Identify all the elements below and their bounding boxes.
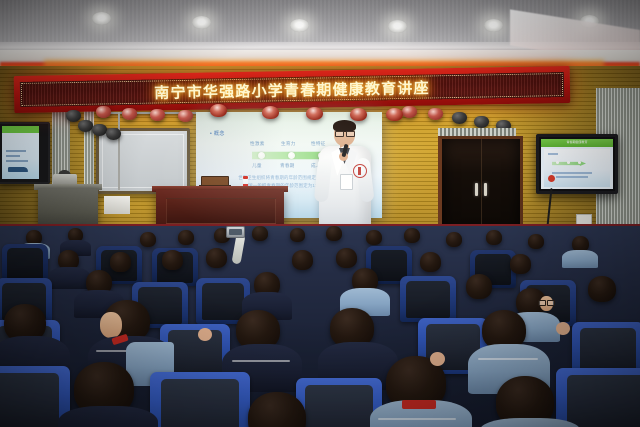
- student-head: [290, 228, 305, 242]
- student-hand: [556, 322, 570, 335]
- presenter-glasses-icon: [335, 131, 354, 136]
- presenter-id-badge: [340, 174, 353, 190]
- uniform-stripe: [478, 358, 538, 360]
- slide-label-top: 性激素: [250, 141, 265, 147]
- student-head: [292, 250, 313, 270]
- slide-label-bottom: 青春期: [280, 163, 295, 169]
- student-glasses-icon: [538, 300, 554, 305]
- student-head: [252, 226, 268, 241]
- student-head: [336, 248, 357, 268]
- presenter-coat-emblem: [353, 164, 367, 178]
- stage-spotlight: [452, 112, 467, 124]
- student-head: [326, 226, 342, 241]
- smartphone[interactable]: [226, 226, 245, 238]
- student-head: [466, 274, 492, 299]
- red-scarf: [402, 400, 436, 409]
- door-center-seam: [481, 139, 482, 237]
- stage-spotlight: [474, 116, 489, 128]
- auditorium-seat[interactable]: [2, 244, 48, 282]
- stage-spotlight: [178, 110, 193, 122]
- rear-exit-door[interactable]: [438, 136, 523, 237]
- ceiling-downlight: [92, 12, 111, 25]
- student-head: [528, 234, 544, 249]
- stage-spotlight: [66, 110, 81, 122]
- slide-label-top: 生育力: [281, 141, 296, 147]
- student-head: [178, 230, 194, 245]
- auditorium-lecture-photo: 南宁市华强路小学青春期健康教育讲座 青春期健康教育: [0, 0, 640, 427]
- stage-spotlight: [106, 128, 121, 140]
- student-hand: [430, 352, 445, 366]
- student-head: [110, 252, 131, 272]
- auditorium-seat[interactable]: [400, 276, 456, 322]
- stage-spotlight: [150, 109, 165, 121]
- stage-equipment-box: [104, 196, 130, 214]
- student-face: [100, 312, 122, 338]
- presenter: [313, 118, 377, 230]
- ceiling-downlight: [192, 16, 211, 29]
- door-handle[interactable]: [475, 183, 478, 196]
- left-monitor-graphic: [8, 167, 28, 172]
- tv-slide-body: [544, 149, 610, 187]
- student-head: [366, 230, 382, 245]
- stage-spotlight: [402, 106, 417, 118]
- slide-timeline-node: [258, 152, 265, 159]
- auditorium-seat[interactable]: [150, 372, 250, 427]
- tv-slide-header-text: 青春期健康教育: [541, 140, 613, 144]
- student-shoulders: [58, 406, 158, 427]
- uniform-stripe: [232, 360, 290, 362]
- led-banner-panel: 南宁市华强路小学青春期健康教育讲座: [20, 72, 564, 107]
- student-head: [420, 252, 441, 272]
- student-head: [162, 250, 183, 270]
- ceiling-lamp-globe: [262, 106, 279, 119]
- student-head: [404, 228, 420, 243]
- stage-spotlight: [122, 108, 137, 120]
- stage-spotlight: [428, 108, 443, 120]
- uniform-stripe: [378, 418, 456, 420]
- student-hand: [198, 328, 212, 341]
- stage-spotlight: [78, 120, 93, 132]
- student-shoulders: [562, 250, 598, 268]
- student-head: [446, 232, 462, 247]
- ceiling-downlight: [388, 20, 407, 33]
- right-wall-television[interactable]: 青春期健康教育: [536, 134, 618, 194]
- audience-area: [0, 226, 640, 427]
- door-handle[interactable]: [484, 183, 487, 196]
- student-head: [588, 276, 616, 302]
- left-wall-monitor[interactable]: [0, 122, 50, 184]
- stage-spotlight: [92, 124, 107, 136]
- student-shoulders: [48, 267, 90, 289]
- ceiling-lamp-globe: [386, 108, 403, 121]
- slide-bullet-text: • 概念: [210, 130, 225, 137]
- student-head: [206, 248, 227, 268]
- student-head: [486, 230, 502, 245]
- slide-timeline-node: [288, 152, 295, 159]
- slide-label-bottom: 儿童: [252, 163, 262, 169]
- student-head: [140, 232, 156, 247]
- auditorium-seat[interactable]: [556, 368, 640, 427]
- student-head: [510, 254, 531, 274]
- ceiling-downlight: [484, 19, 503, 32]
- ceiling-lamp-globe: [210, 104, 227, 117]
- left-monitor-screen: [2, 126, 39, 179]
- ceiling-downlight: [290, 19, 309, 32]
- podium-front-panel: [166, 198, 276, 224]
- water-bottle-cap: [243, 176, 248, 179]
- tv-slide-logo: [548, 175, 555, 182]
- spotlight-pole: [118, 112, 120, 190]
- stage-spotlight: [96, 106, 111, 118]
- tv-screen: 青春期健康教育: [541, 139, 613, 189]
- raised-arm: [231, 233, 245, 264]
